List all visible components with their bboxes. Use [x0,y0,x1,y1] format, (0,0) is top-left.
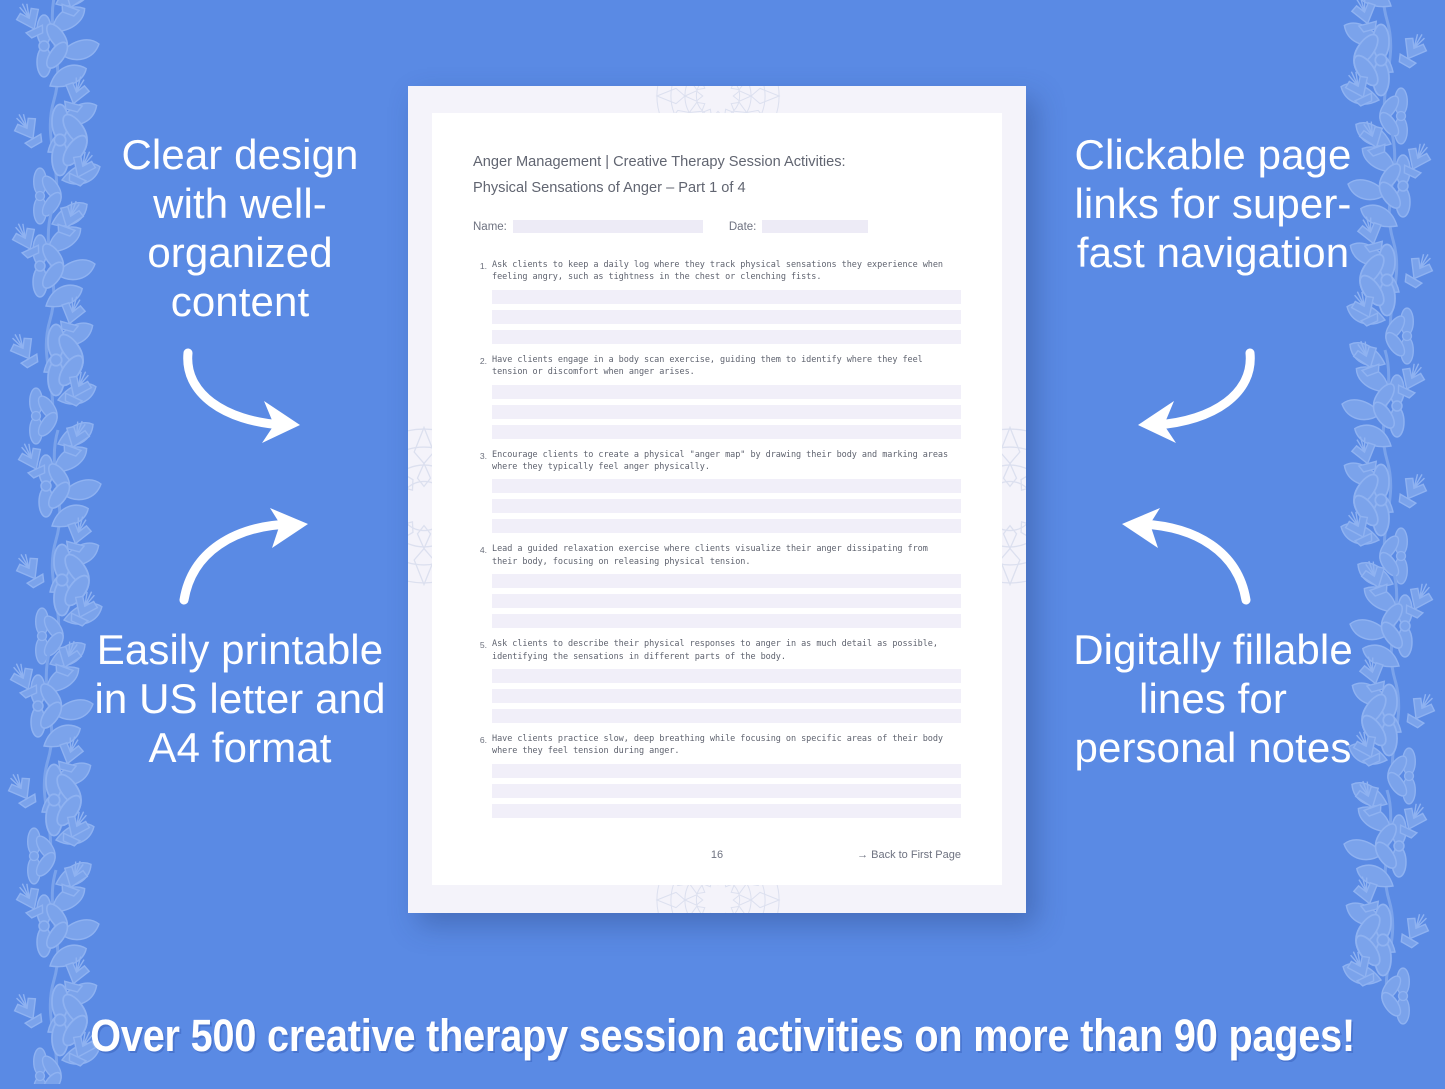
curved-arrow-right-icon [178,345,338,450]
activity-body: Ask clients to describe their physical r… [492,638,961,729]
fill-line[interactable] [492,499,961,513]
fill-line[interactable] [492,330,961,344]
name-date-row: Name: Date: [473,220,961,233]
fill-line[interactable] [492,764,961,778]
activity-number: 4. [473,543,492,634]
date-label: Date: [729,221,757,233]
activity-item: 1.Ask clients to keep a daily log where … [473,259,961,350]
fill-line[interactable] [492,519,961,533]
curved-arrow-left-icon [1100,345,1260,450]
curved-arrow-left-icon [1092,508,1252,613]
name-input[interactable] [513,220,703,233]
activity-item: 5.Ask clients to describe their physical… [473,638,961,729]
activity-item: 2.Have clients engage in a body scan exe… [473,354,961,445]
back-to-first-page-link[interactable]: → Back to First Page [857,849,961,861]
fill-line[interactable] [492,425,961,439]
name-label: Name: [473,221,507,233]
fill-line[interactable] [492,804,961,818]
document-footer: 16 → Back to First Page [473,849,961,861]
fill-line[interactable] [492,594,961,608]
fill-line[interactable] [492,290,961,304]
activity-number: 1. [473,259,492,350]
curved-arrow-right-icon [178,508,338,613]
promo-text-clickable-links: Clickable page links for super-fast navi… [1053,130,1373,277]
activity-number: 3. [473,449,492,540]
activity-number: 5. [473,638,492,729]
fill-line[interactable] [492,689,961,703]
fill-line[interactable] [492,574,961,588]
promo-text-clear-design: Clear design with well-organized content [84,130,396,326]
fill-line[interactable] [492,709,961,723]
activity-body: Lead a guided relaxation exercise where … [492,543,961,634]
bottom-banner: Over 500 creative therapy session activi… [0,988,1445,1084]
fill-line[interactable] [492,614,961,628]
document-page: Anger Management | Creative Therapy Sess… [432,113,1002,885]
activity-text: Ask clients to keep a daily log where th… [492,259,961,284]
activity-body: Ask clients to keep a daily log where th… [492,259,961,350]
document-title-line-2: Physical Sensations of Anger – Part 1 of… [473,176,961,202]
activity-fill-lines [492,574,961,628]
activity-fill-lines [492,290,961,344]
fill-line[interactable] [492,310,961,324]
activity-list: 1.Ask clients to keep a daily log where … [473,259,961,824]
activity-number: 2. [473,354,492,445]
date-input[interactable] [762,220,868,233]
activity-item: 3.Encourage clients to create a physical… [473,449,961,540]
activity-fill-lines [492,385,961,439]
banner-text: Over 500 creative therapy session activi… [90,1010,1355,1062]
fill-line[interactable] [492,669,961,683]
promo-text-fillable-lines: Digitally fillable lines for personal no… [1053,625,1373,772]
activity-body: Encourage clients to create a physical "… [492,449,961,540]
document-title-line-1: Anger Management | Creative Therapy Sess… [473,150,961,176]
page-number: 16 [711,849,723,861]
fill-line[interactable] [492,385,961,399]
activity-number: 6. [473,733,492,824]
fill-line[interactable] [492,784,961,798]
activity-text: Lead a guided relaxation exercise where … [492,543,961,568]
activity-fill-lines [492,479,961,533]
activity-text: Encourage clients to create a physical "… [492,449,961,474]
activity-body: Have clients engage in a body scan exerc… [492,354,961,445]
activity-item: 6.Have clients practice slow, deep breat… [473,733,961,824]
activity-text: Have clients engage in a body scan exerc… [492,354,961,379]
activity-text: Ask clients to describe their physical r… [492,638,961,663]
activity-item: 4.Lead a guided relaxation exercise wher… [473,543,961,634]
activity-body: Have clients practice slow, deep breathi… [492,733,961,824]
fill-line[interactable] [492,405,961,419]
activity-fill-lines [492,669,961,723]
promo-text-printable: Easily printable in US letter and A4 for… [84,625,396,772]
activity-text: Have clients practice slow, deep breathi… [492,733,961,758]
fill-line[interactable] [492,479,961,493]
document-preview: Anger Management | Creative Therapy Sess… [408,86,1026,913]
activity-fill-lines [492,764,961,818]
